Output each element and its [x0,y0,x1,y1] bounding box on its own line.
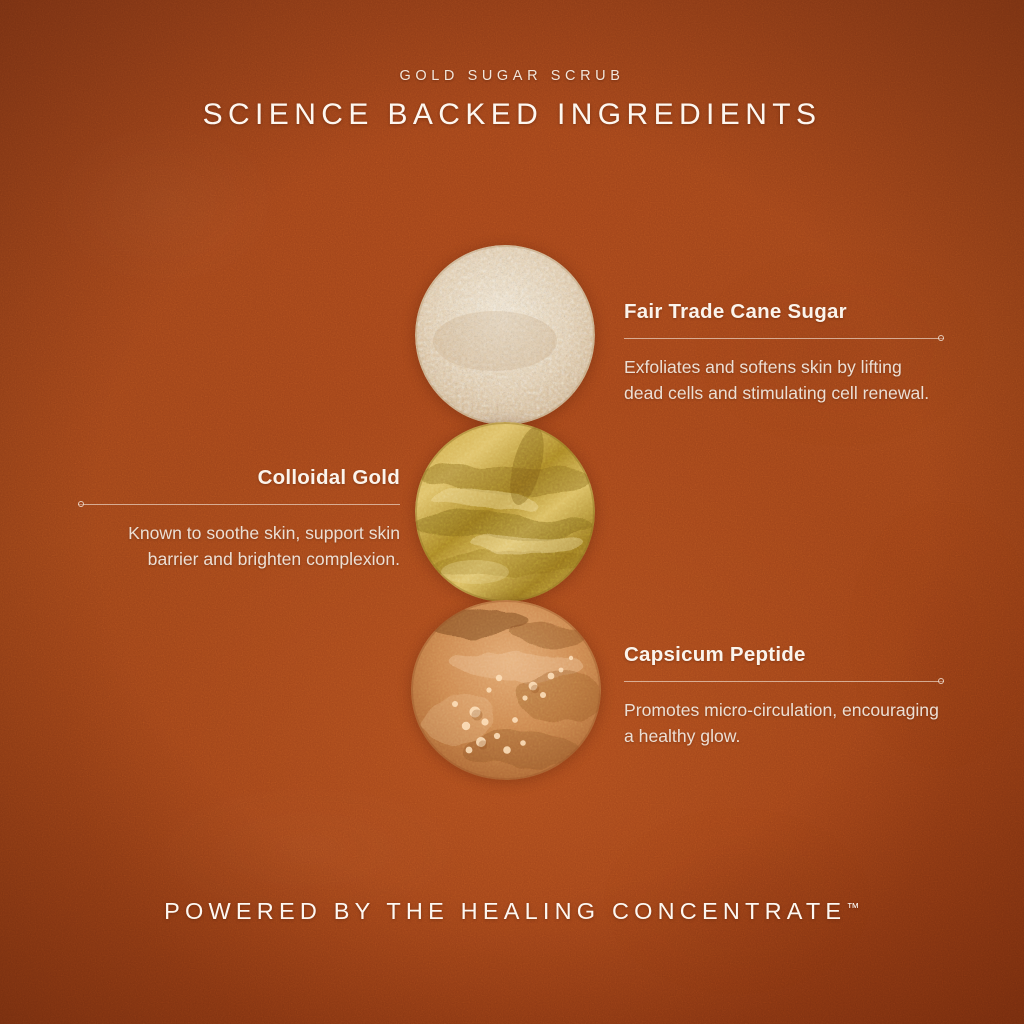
ingredient-name: Capsicum Peptide [624,643,944,668]
connector-line [78,504,400,505]
page-title: SCIENCE BACKED INGREDIENTS [0,98,1024,132]
ingredient-description: Exfoliates and softens skin by lifting d… [624,354,944,407]
connector-node-dot [938,678,944,684]
product-eyebrow: GOLD SUGAR SCRUB [0,68,1024,84]
footer: POWERED BY THE HEALING CONCENTRATE™ [0,898,1024,925]
connector-rule [78,500,400,509]
colloidal-gold-swatch [415,422,595,602]
footer-tagline-text: POWERED BY THE HEALING CONCENTRATE [164,898,846,924]
footer-tagline: POWERED BY THE HEALING CONCENTRATE™ [0,898,1024,925]
connector-node-dot [938,335,944,341]
ingredient-callout-capsicum-peptide: Capsicum Peptide Promotes micro-circulat… [624,643,944,750]
cane-sugar-swatch [415,245,595,425]
connector-rule [624,677,944,686]
connector-node-dot [78,501,84,507]
ingredient-callout-cane-sugar: Fair Trade Cane Sugar Exfoliates and sof… [624,300,944,407]
ingredient-description: Promotes micro-circulation, encouraging … [624,697,944,750]
ingredient-name: Colloidal Gold [78,466,400,491]
ingredient-name: Fair Trade Cane Sugar [624,300,944,325]
ingredient-swatch-stack [415,245,595,767]
ingredient-infographic: GOLD SUGAR SCRUB SCIENCE BACKED INGREDIE… [0,0,1024,1024]
connector-line [624,338,944,339]
connector-line [624,681,944,682]
header: GOLD SUGAR SCRUB SCIENCE BACKED INGREDIE… [0,68,1024,132]
capsicum-peptide-swatch [411,600,601,780]
ingredient-callout-colloidal-gold: Colloidal Gold Known to soothe skin, sup… [78,466,400,573]
trademark-symbol: ™ [846,900,860,915]
ingredient-description: Known to soothe skin, support skin barri… [78,520,400,573]
connector-rule [624,334,944,343]
